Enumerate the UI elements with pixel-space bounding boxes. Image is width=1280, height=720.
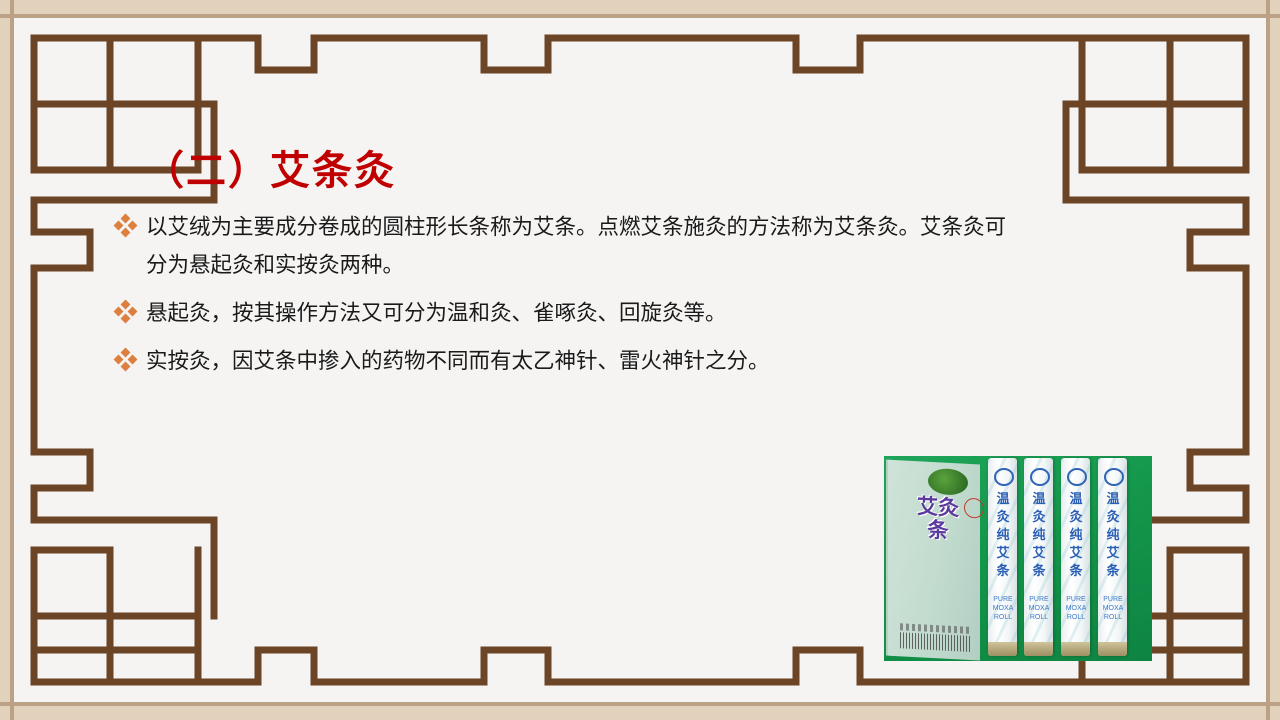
diamond-cluster-bullet-icon [112,298,146,332]
barcode [900,632,970,652]
list-item: 实按灸，因艾条中掺入的药物不同而有太乙神针、雷火神针之分。 [112,342,1012,380]
list-item: 悬起灸，按其操作方法又可分为温和灸、雀啄灸、回旋灸等。 [112,294,1012,332]
brand-logo-icon [994,468,1014,486]
stick-label: 温灸纯艾条 [1102,490,1124,580]
brand-logo-icon [1104,468,1124,486]
list-item-text: 以艾绒为主要成分卷成的圆柱形长条称为艾条。点燃艾条施灸的方法称为艾条灸。艾条灸可… [146,208,1012,284]
slide-canvas: （二）艾条灸 以艾绒为主要成分卷成的圆柱形长条称为艾条。点燃艾条施灸的方法称为艾… [14,18,1266,702]
seal-stamp-icon [964,498,984,519]
stick-english-label: PURE MOXA ROLL [1063,595,1089,622]
list-item: 以艾绒为主要成分卷成的圆柱形长条称为艾条。点燃艾条施灸的方法称为艾条灸。艾条灸可… [112,208,1012,284]
moxa-stick-product-photo: 艾灸条 温灸纯艾条 PURE MOXA ROLL 温灸纯艾条 PURE MOXA… [884,456,1152,661]
list-item-text: 实按灸，因艾条中掺入的药物不同而有太乙神针、雷火神针之分。 [146,342,1012,380]
slide-root: （二）艾条灸 以艾绒为主要成分卷成的圆柱形长条称为艾条。点燃艾条施灸的方法称为艾… [0,0,1280,720]
stick-english-label: PURE MOXA ROLL [1100,595,1126,622]
page-title: （二）艾条灸 [144,138,396,196]
outer-rule-right [1266,0,1270,720]
stick-tip [1024,642,1053,656]
stick-tip [1061,642,1090,656]
diamond-cluster-bullet-icon [112,346,146,380]
diamond-cluster-bullet-icon [112,212,146,246]
stick-tip [1098,642,1127,656]
moxa-product-box: 艾灸条 [886,460,980,661]
moxa-stick: 温灸纯艾条 PURE MOXA ROLL [1061,458,1090,656]
stick-tip [988,642,1017,656]
bullet-list: 以艾绒为主要成分卷成的圆柱形长条称为艾条。点燃艾条施灸的方法称为艾条灸。艾条灸可… [112,208,1012,390]
moxa-stick: 温灸纯艾条 PURE MOXA ROLL [988,458,1017,656]
stick-label: 温灸纯艾条 [992,490,1014,580]
stick-english-label: PURE MOXA ROLL [990,595,1016,622]
stick-english-label: PURE MOXA ROLL [1026,595,1052,622]
brand-logo-icon [1067,468,1087,486]
outer-rule-bottom [0,702,1280,706]
stick-label: 温灸纯艾条 [1028,490,1050,580]
box-label: 艾灸条 [910,495,966,544]
slide-content: （二）艾条灸 以艾绒为主要成分卷成的圆柱形长条称为艾条。点燃艾条施灸的方法称为艾… [14,18,1266,702]
brand-logo-icon [1030,468,1050,486]
leaf-photo-circle [928,468,968,496]
moxa-stick: 温灸纯艾条 PURE MOXA ROLL [1024,458,1053,656]
moxa-stick: 温灸纯艾条 PURE MOXA ROLL [1098,458,1127,656]
stick-label: 温灸纯艾条 [1065,490,1087,580]
list-item-text: 悬起灸，按其操作方法又可分为温和灸、雀啄灸、回旋灸等。 [146,294,1012,332]
